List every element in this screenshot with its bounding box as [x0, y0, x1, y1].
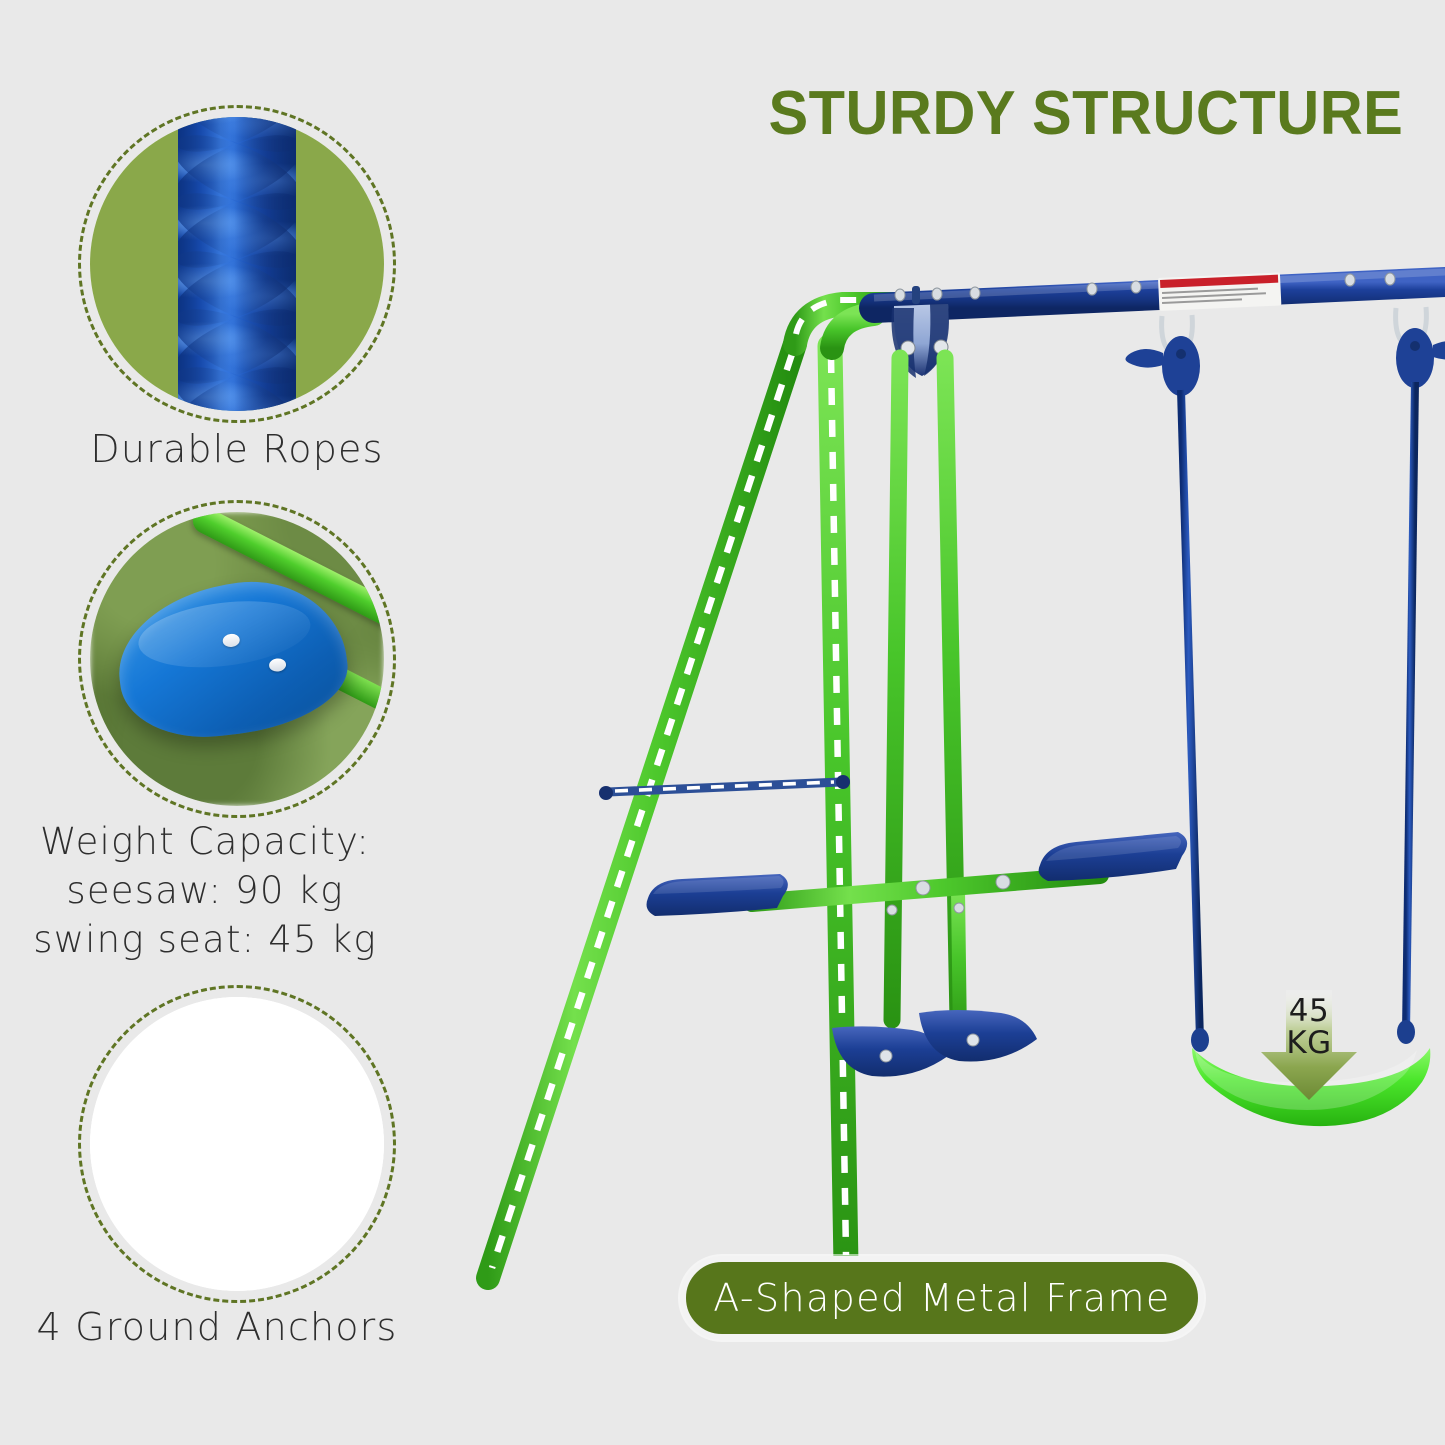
rope-photo [90, 117, 384, 411]
frame-leg-diagonal [488, 344, 795, 1278]
feature-label-ground-anchors: 4 Ground Anchors [0, 1302, 452, 1352]
seesaw-seat-photo-circle [78, 500, 396, 818]
weight-capacity-line-2: seesaw: 90 kg [0, 867, 440, 916]
seesaw-seat-photo [90, 512, 384, 806]
weight-capacity-line-1: Weight Capacity: [0, 818, 440, 867]
page-title: STURDY STRUCTURE [768, 78, 1403, 149]
load-unit: KG [1286, 1028, 1331, 1060]
top-beam [874, 272, 1445, 311]
weight-capacity-line-3: swing seat: 45 kg [0, 916, 440, 965]
infographic-canvas: STURDY STRUCTURE Durable Ropes [0, 0, 1445, 1445]
swing-hook-left [1125, 315, 1200, 396]
frame-leg-vertical [830, 346, 846, 1265]
product-image [400, 250, 1445, 1340]
load-capacity-arrow: 45 KG [1253, 990, 1365, 1100]
seat-rivet [269, 657, 287, 672]
glider-seat-right [1039, 832, 1188, 881]
anchors-background [90, 997, 384, 1291]
product-feature-badge: A-Shaped Metal Frame [680, 1256, 1204, 1340]
seat-rivet [222, 632, 240, 647]
rope-strand [178, 117, 296, 411]
swing-ropes [1181, 382, 1415, 1052]
anchors-photo-circle [78, 985, 396, 1303]
anchors-photo [90, 997, 384, 1291]
swing-hook-right [1396, 307, 1445, 388]
load-value: 45 [1289, 996, 1329, 1028]
feature-label-weight-capacity: Weight Capacity: seesaw: 90 kg swing sea… [0, 818, 440, 964]
warning-sticker [1158, 272, 1281, 311]
glider-poles [887, 358, 964, 1040]
rope-photo-circle [78, 105, 396, 423]
